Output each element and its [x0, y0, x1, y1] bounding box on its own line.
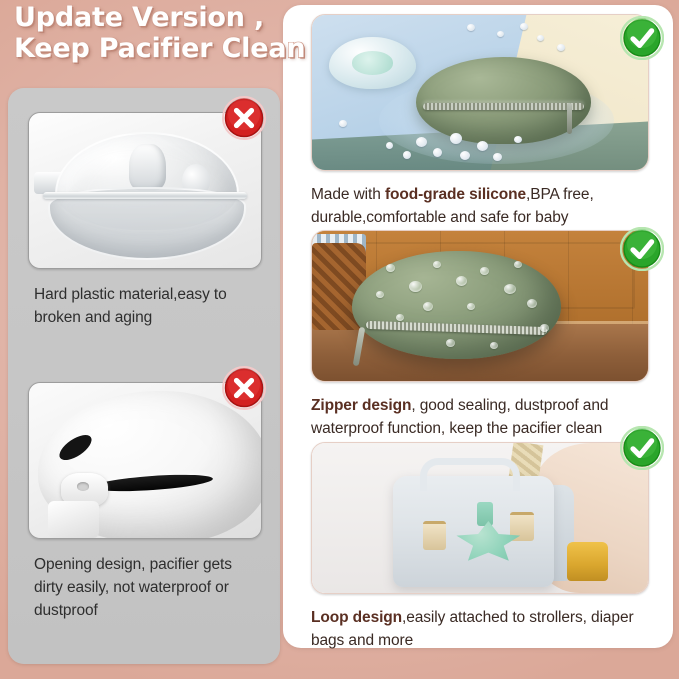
green-silicone-case-with-pellets-photo	[311, 14, 649, 171]
caption-text-bold-1: food-grade silicone	[385, 186, 526, 203]
check-badge-icon	[620, 16, 664, 60]
cross-badge-icon	[222, 96, 266, 140]
page-title: Update Version , Keep Pacifier Clean	[14, 2, 314, 64]
check-badge-icon	[620, 426, 664, 470]
diaper-bag-with-mint-flower-case-photo	[311, 442, 649, 594]
caption-text-bold-3: Loop design	[311, 609, 402, 626]
product-infographic: Update Version , Keep Pacifier Clean Har…	[0, 0, 679, 679]
right-feature-2: Zipper design, good sealing, dustproof a…	[311, 230, 647, 440]
left-feature-2-caption: Opening design, pacifier gets dirty easi…	[28, 553, 260, 622]
right-feature-2-caption: Zipper design, good sealing, dustproof a…	[311, 394, 647, 440]
caption-text-bold-2: Zipper design	[311, 397, 411, 414]
right-feature-1-caption: Made with food-grade silicone,BPA free, …	[311, 183, 647, 229]
title-line-2: Keep Pacifier Clean	[14, 33, 314, 64]
right-feature-1: Made with food-grade silicone,BPA free, …	[311, 14, 647, 229]
left-feature-1: Hard plastic material,easy to broken and…	[28, 112, 260, 329]
check-badge-icon	[620, 227, 664, 271]
right-feature-3-caption: Loop design,easily attached to strollers…	[311, 606, 647, 652]
cross-badge-icon	[222, 366, 266, 410]
green-case-waterproof-droplets-photo	[311, 230, 649, 382]
left-feature-1-caption: Hard plastic material,easy to broken and…	[28, 283, 260, 329]
caption-text-plain-1: Made with	[311, 186, 385, 203]
right-feature-3: Loop design,easily attached to strollers…	[311, 442, 647, 652]
left-feature-2: Opening design, pacifier gets dirty easi…	[28, 382, 260, 622]
title-line-1: Update Version ,	[14, 2, 314, 33]
